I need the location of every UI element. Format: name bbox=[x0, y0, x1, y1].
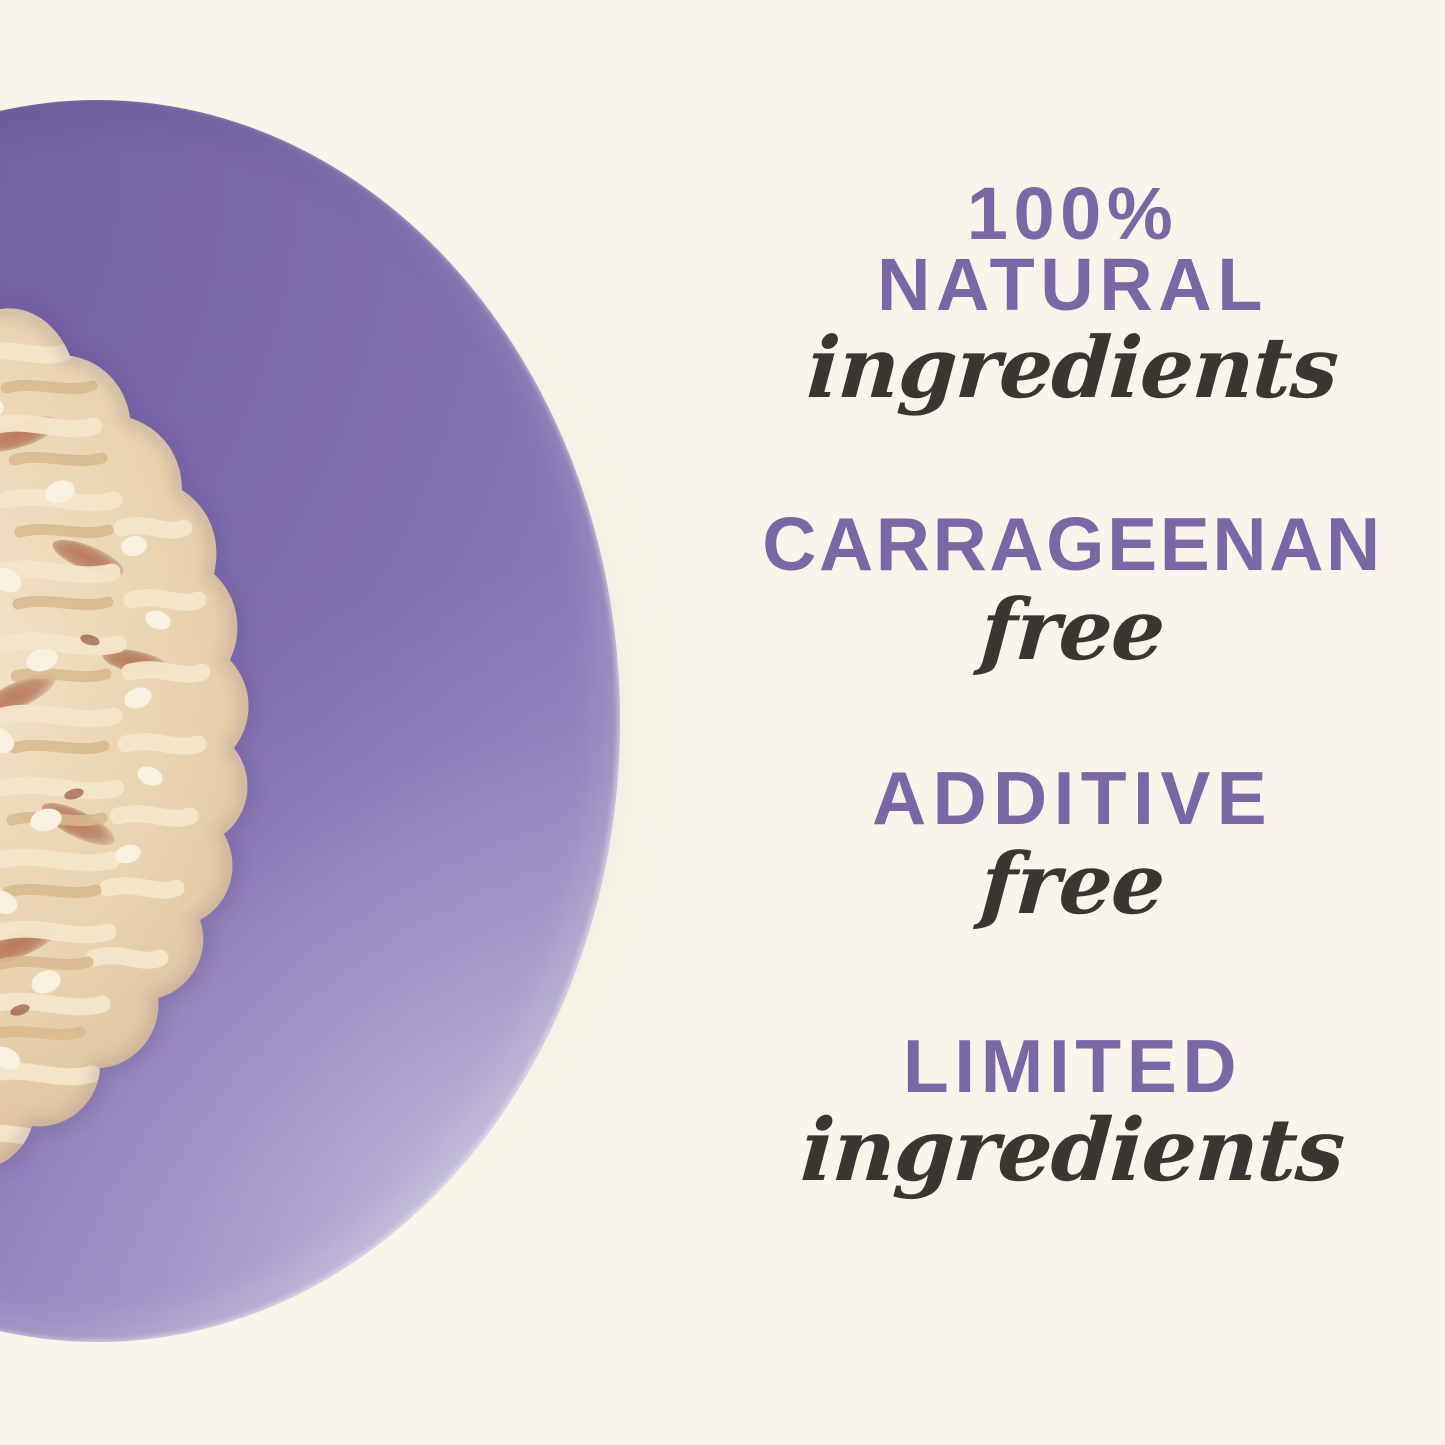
benefit-claims-list: 100% NATURAL ingredients CARRAGEENAN fre… bbox=[700, 0, 1445, 1445]
benefit-heading: CARRAGEENAN bbox=[700, 508, 1445, 580]
benefit-heading: LIMITED bbox=[700, 1030, 1445, 1102]
benefit-script-text: free bbox=[697, 588, 1445, 672]
product-benefits-graphic: 100% NATURAL ingredients CARRAGEENAN fre… bbox=[0, 0, 1445, 1445]
benefit-script-text: ingredients bbox=[697, 326, 1445, 410]
benefit-limited-ingredients: LIMITED ingredients bbox=[700, 1030, 1445, 1194]
benefit-natural-ingredients: 100% NATURAL ingredients bbox=[700, 178, 1445, 410]
benefit-heading-line: ADDITIVE bbox=[700, 762, 1445, 834]
benefit-heading-line: 100% bbox=[700, 178, 1445, 249]
benefit-script-text: ingredients bbox=[697, 1108, 1445, 1194]
shredded-wet-pet-food bbox=[0, 228, 430, 1283]
benefit-heading-line: NATURAL bbox=[700, 249, 1445, 320]
benefit-carrageenan-free: CARRAGEENAN free bbox=[700, 508, 1445, 672]
benefit-heading: 100% NATURAL bbox=[700, 178, 1445, 320]
benefit-heading-line: LIMITED bbox=[700, 1030, 1445, 1102]
benefit-heading-line: CARRAGEENAN bbox=[700, 508, 1445, 580]
benefit-additive-free: ADDITIVE free bbox=[700, 762, 1445, 926]
benefit-heading: ADDITIVE bbox=[700, 762, 1445, 834]
pet-food-on-plate-photo bbox=[0, 0, 760, 1445]
benefit-script-text: free bbox=[697, 842, 1445, 926]
